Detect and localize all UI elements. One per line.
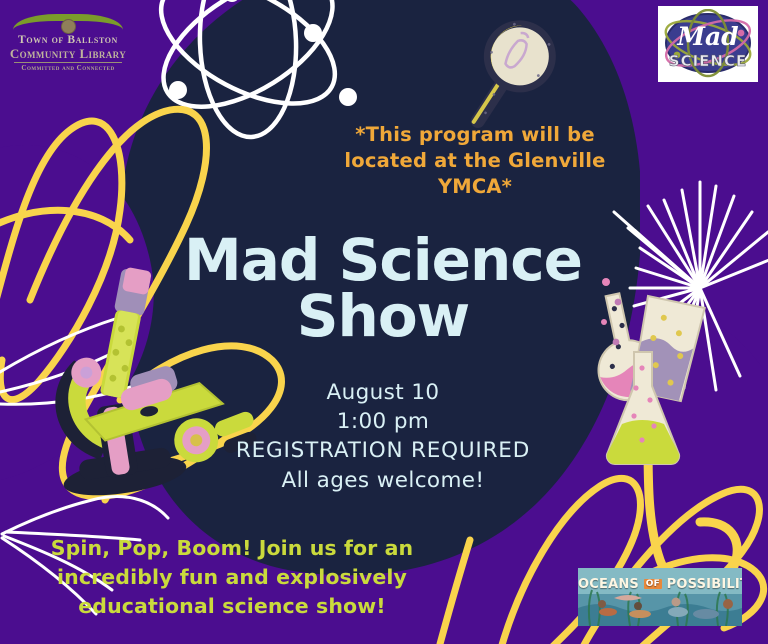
logo-seal-icon (61, 19, 76, 34)
tagline-line-3: educational science show! (42, 592, 422, 621)
page-title: Mad Science Show (148, 232, 618, 345)
title-line-2: Show (148, 288, 618, 344)
library-logo-line2: Community Library (8, 47, 128, 60)
oceans-of-badge: OF (644, 579, 662, 589)
oceans-banner-title: OCEANS OF POSSIBILITIES (578, 577, 742, 592)
location-note: *This program will be located at the Gle… (330, 122, 620, 200)
library-logo-divider (14, 62, 122, 63)
event-date: August 10 (218, 378, 548, 407)
oceans-of-possibilities-banner: OCEANS OF POSSIBILITIES (578, 568, 742, 626)
svg-text:SCIENCE: SCIENCE (669, 52, 747, 70)
event-time: 1:00 pm (218, 407, 548, 436)
note-line-3: YMCA* (330, 174, 620, 200)
audience-note: All ages welcome! (218, 466, 548, 495)
mad-science-logo: Mad SCIENCE (658, 6, 758, 82)
poster-canvas: Town of Ballston Community Library Commi… (0, 0, 768, 644)
library-logo: Town of Ballston Community Library Commi… (8, 14, 128, 76)
registration-notice: REGISTRATION REQUIRED (218, 436, 548, 465)
mad-science-logo-inner: Mad SCIENCE (661, 9, 755, 79)
library-logo-tagline: Committed and Connected (8, 65, 128, 72)
event-details: August 10 1:00 pm REGISTRATION REQUIRED … (218, 378, 548, 495)
tagline-line-1: Spin, Pop, Boom! Join us for an (42, 534, 422, 563)
oceans-word-3: POSSIBILITIES (667, 577, 742, 592)
tagline-line-2: incredibly fun and explosively (42, 563, 422, 592)
oceans-word-1: OCEANS (578, 577, 639, 592)
note-line-2: located at the Glenville (330, 148, 620, 174)
note-line-1: *This program will be (330, 122, 620, 148)
tagline: Spin, Pop, Boom! Join us for an incredib… (42, 534, 422, 621)
svg-text:Mad: Mad (676, 22, 738, 51)
title-line-1: Mad Science (148, 232, 618, 288)
library-logo-line1: Town of Ballston (8, 35, 128, 47)
